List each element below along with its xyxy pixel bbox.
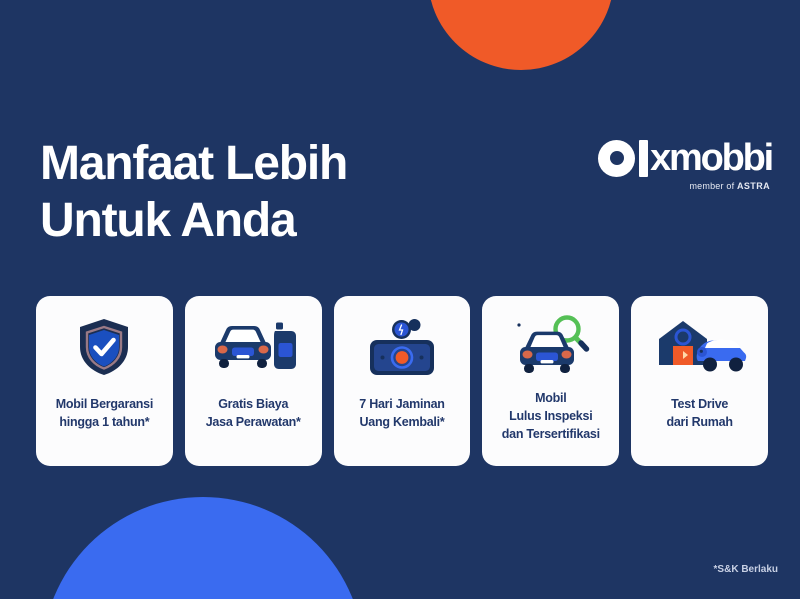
car-front (215, 326, 271, 368)
benefit-card-label: Mobil Lulus Inspeksi dan Tersertifikasi (502, 390, 600, 443)
car-front (520, 332, 574, 373)
terms-footnote: *S&K Berlaku (714, 564, 778, 575)
benefit-card-label: Gratis Biaya Jasa Perawatan* (206, 396, 301, 432)
logo-bar-icon (639, 140, 648, 177)
page-title: Manfaat Lebih Untuk Anda (40, 136, 347, 249)
logo-tagline-brand: ASTRA (737, 181, 770, 191)
banknote (370, 340, 434, 375)
logo-text: xmobbi (650, 140, 772, 177)
benefit-card-test-drive[interactable]: Test Drive dari Rumah (631, 296, 768, 466)
oil-bottle (274, 323, 296, 370)
shield-check-icon (75, 314, 133, 380)
orange-circle-decoration (428, 0, 614, 70)
blue-circle-decoration (42, 497, 364, 599)
promo-banner: Manfaat Lebih Untuk Anda xmobbi member o… (0, 0, 800, 599)
coins (392, 319, 421, 339)
benefit-card-money-back[interactable]: 7 Hari Jaminan Uang Kembali* (334, 296, 471, 466)
logo-tagline: member of ASTRA (598, 181, 772, 191)
car-side (696, 340, 745, 372)
benefit-card-label: 7 Hari Jaminan Uang Kembali* (359, 396, 444, 432)
benefit-card-label: Test Drive dari Rumah (666, 396, 732, 432)
car-oil-bottle-icon (207, 314, 299, 380)
benefit-card-free-service[interactable]: Gratis Biaya Jasa Perawatan* (185, 296, 322, 466)
benefit-card-inspected[interactable]: Mobil Lulus Inspeksi dan Tersertifikasi (482, 296, 619, 466)
logo-tagline-prefix: member of (689, 181, 737, 191)
benefit-card-warranty[interactable]: Mobil Bergaransi hingga 1 tahun* (36, 296, 173, 466)
banknote-coins-icon (356, 314, 448, 380)
logo-wordmark: xmobbi (598, 138, 772, 178)
logo-o-icon (598, 140, 635, 177)
benefit-card-list: Mobil Bergaransi hingga 1 tahun* (36, 296, 768, 466)
benefit-card-label: Mobil Bergaransi hingga 1 tahun* (56, 396, 153, 432)
house-car-icon (651, 314, 749, 380)
car-magnifier-icon (509, 314, 593, 380)
brand-logo: xmobbi member of ASTRA (598, 138, 772, 191)
